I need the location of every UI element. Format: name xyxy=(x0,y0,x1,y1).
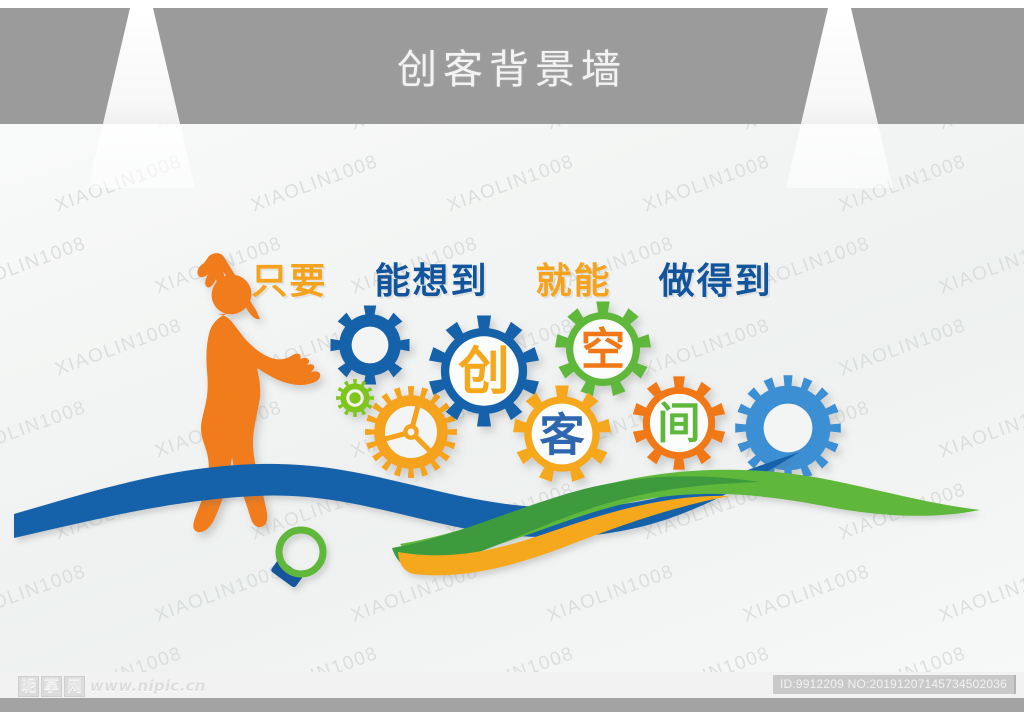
gear-jian-icon: 间 xyxy=(633,376,725,469)
gear-spoked-amber-hub-hole xyxy=(408,429,415,436)
artwork-group: 创空客间 xyxy=(0,124,1024,672)
site-logo-char-0: 昵 xyxy=(18,676,39,697)
wave-group xyxy=(14,452,980,575)
gear-plain-blue-icon xyxy=(330,305,409,384)
gear-plain-lightblue-icon xyxy=(735,375,841,481)
gear-mini-green-icon xyxy=(336,379,374,417)
poster-canvas: XIAOLIN1008XIAOLIN1008XIAOLIN1008XIAOLIN… xyxy=(0,0,1024,712)
gear-plain-blue-hole xyxy=(352,327,389,364)
gear-ke-icon: 客 xyxy=(513,385,611,481)
gear-kong-icon: 空 xyxy=(555,301,651,395)
page-title: 创客背景墙 xyxy=(0,8,1024,124)
gear-layer: 创空客间 xyxy=(330,301,840,481)
slogan-part-3: 就能 xyxy=(536,252,612,304)
magnifier-icon xyxy=(270,530,323,588)
footer-bar: 昵享网 www.nipic.cn ID:9912209 NO:201912071… xyxy=(0,672,1024,712)
site-logo-char-2: 网 xyxy=(64,676,85,697)
site-logo-char-1: 享 xyxy=(41,676,62,697)
gear-mini-green-hub xyxy=(349,392,360,403)
image-id-badge: ID:9912209 NO:20191207145734502036 xyxy=(773,675,1016,694)
site-logo-cn: 昵享网 xyxy=(18,676,85,697)
slogan-part-4: 做得到 xyxy=(659,252,773,304)
gear-kong-char: 空 xyxy=(581,325,625,376)
site-logo-url: www.nipic.cn xyxy=(90,677,206,695)
gear-chuang-char: 创 xyxy=(457,342,510,402)
header-band: 创客背景墙 xyxy=(0,8,1024,124)
slogan-part-2: 能想到 xyxy=(374,252,488,304)
gear-plain-lightblue-hole xyxy=(764,404,813,453)
site-logo[interactable]: 昵享网 www.nipic.cn xyxy=(18,674,206,698)
gear-spoked-amber-icon xyxy=(365,386,457,478)
slogan-part-1: 只要 xyxy=(251,252,327,304)
slogan-line: 只要 能想到 就能 做得到 xyxy=(0,252,1024,304)
footer-dark-strip xyxy=(0,698,1024,712)
gear-jian-char: 间 xyxy=(657,399,700,449)
gear-ke-char: 客 xyxy=(539,409,584,462)
